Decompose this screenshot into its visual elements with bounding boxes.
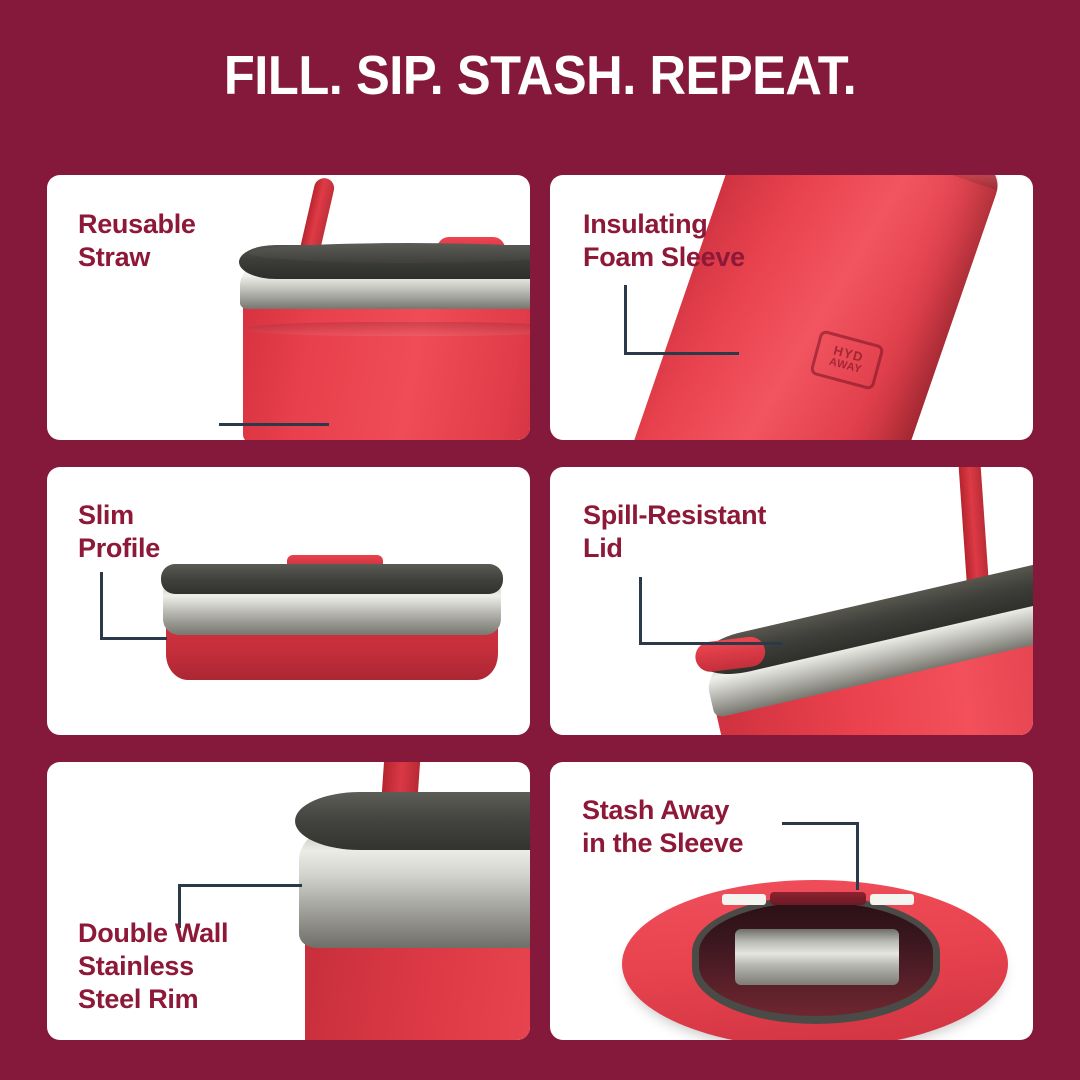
feature-label-stash-away-in-the-sleeve: Stash Away in the Sleeve	[582, 794, 743, 860]
page-title: FILL. SIP. STASH. REPEAT.	[43, 47, 1037, 105]
lid-rim-shape	[295, 792, 530, 850]
feature-card-stash-away-in-the-sleeve[interactable]: Stash Away in the Sleeve	[550, 762, 1033, 1040]
feature-card-reusable-straw[interactable]: Reusable Straw	[47, 175, 530, 440]
leader-line-insulating-foam-sleeve	[624, 285, 739, 355]
feature-label-double-wall-stainless-steel-rim: Double Wall Stainless Steel Rim	[78, 917, 228, 1016]
leader-line-spill-resistant-lid	[639, 577, 782, 645]
feature-card-insulating-foam-sleeve[interactable]: HYD AWAY Insulating Foam Sleeve	[550, 175, 1033, 440]
rim-highlight-left	[722, 894, 766, 905]
feature-card-grid: Reusable Straw HYD AWAY Insulating Foam …	[47, 175, 1033, 1040]
feature-card-slim-profile[interactable]: Slim Profile	[47, 467, 530, 735]
feature-card-spill-resistant-lid[interactable]: Spill-Resistant Lid	[550, 467, 1033, 735]
feature-label-slim-profile: Slim Profile	[78, 499, 160, 565]
lid-top-shape	[161, 564, 503, 594]
feature-card-double-wall-stainless-steel-rim[interactable]: Double Wall Stainless Steel Rim	[47, 762, 530, 1040]
leader-line-stash-away-in-the-sleeve	[782, 822, 859, 890]
feature-label-reusable-straw: Reusable Straw	[78, 208, 196, 274]
leader-line-reusable-straw	[219, 423, 329, 427]
lid-tab-shape	[770, 892, 866, 905]
steel-band-shape	[735, 929, 899, 985]
leader-line-slim-profile	[100, 572, 167, 640]
feature-label-spill-resistant-lid: Spill-Resistant Lid	[583, 499, 766, 565]
rim-highlight-right	[870, 894, 914, 905]
feature-label-insulating-foam-sleeve: Insulating Foam Sleeve	[583, 208, 745, 274]
